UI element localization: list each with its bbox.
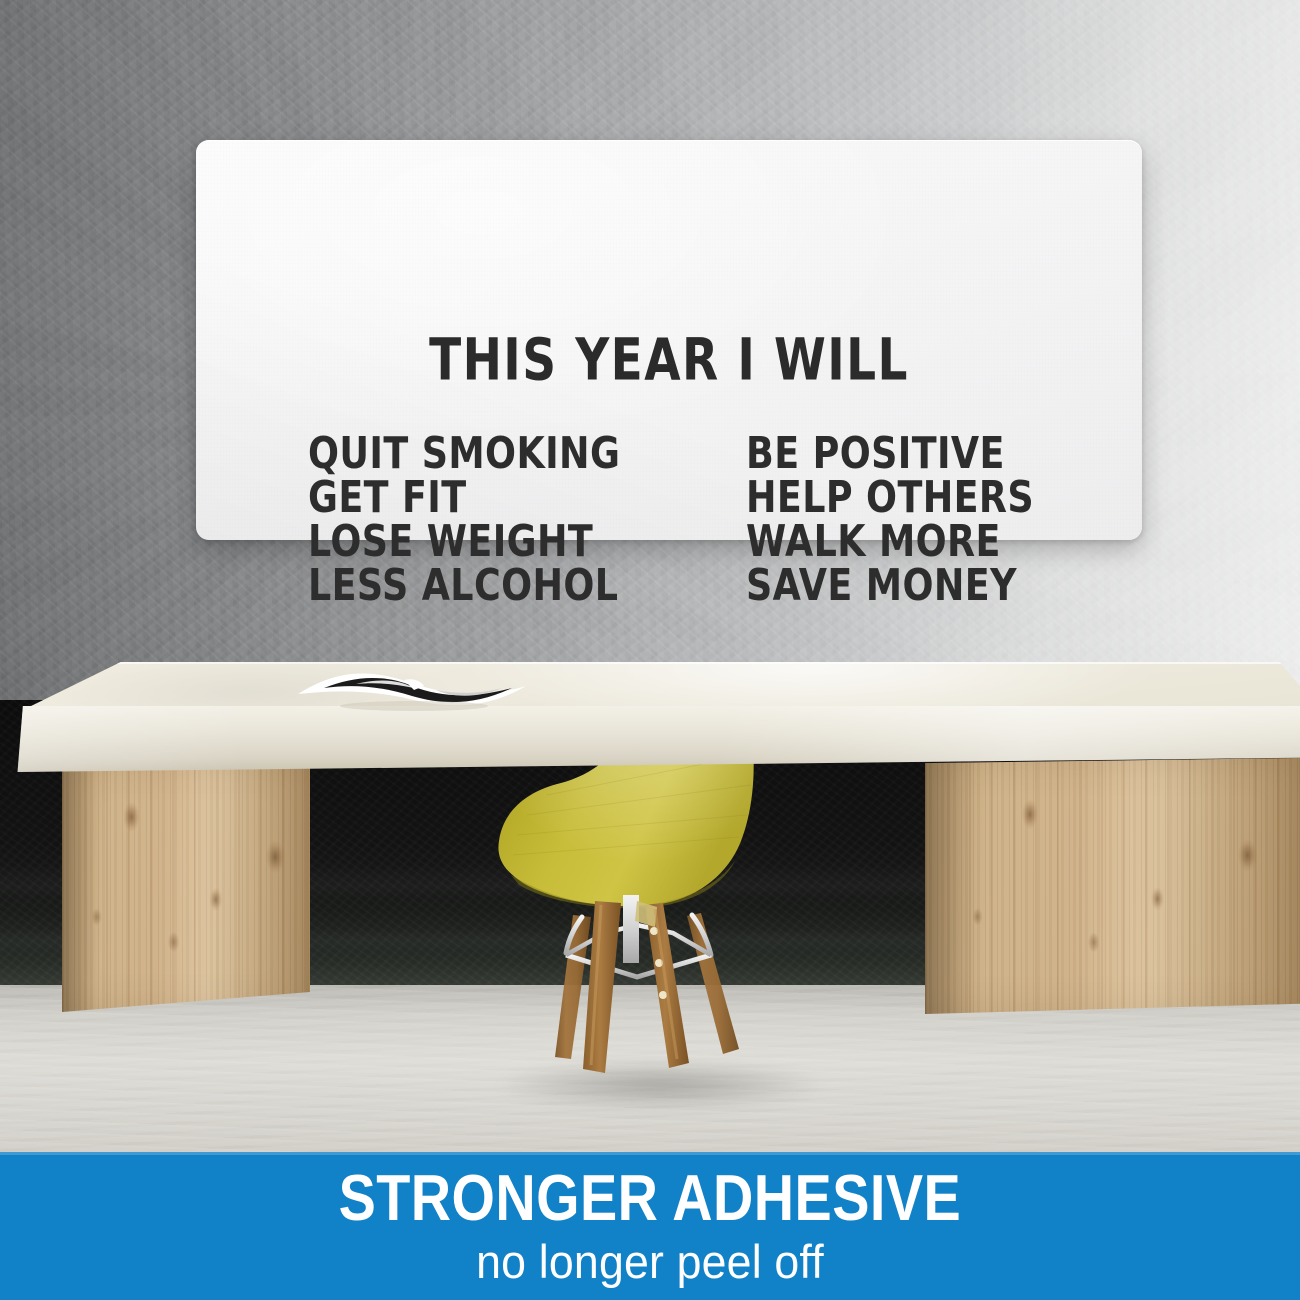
- product-scene: THIS YEAR I WILL QUIT SMOKING GET FIT LO…: [0, 0, 1300, 1300]
- banner-top-line: [0, 1152, 1300, 1155]
- whiteboard-item: WALK MORE: [746, 516, 1126, 566]
- banner-headline: STRONGER ADHESIVE: [339, 1165, 962, 1232]
- whiteboard-title: THIS YEAR I WILL: [224, 326, 1113, 393]
- whiteboard-item: SAVE MONEY: [746, 560, 1126, 610]
- open-magazine: [296, 664, 532, 712]
- wood-shading: [925, 758, 1300, 1014]
- table-surface-sheen: [0, 662, 1300, 710]
- table-leg-right: [925, 758, 1300, 1014]
- banner-subhead: no longer peel off: [476, 1237, 824, 1287]
- whiteboard-item: QUIT SMOKING: [308, 428, 717, 478]
- whiteboard-item: HELP OTHERS: [746, 472, 1126, 522]
- table-front-sheen: [0, 706, 1300, 772]
- whiteboard-item: BE POSITIVE: [746, 428, 1126, 478]
- whiteboard-column-left: QUIT SMOKING GET FIT LOSE WEIGHT LESS AL…: [308, 428, 734, 604]
- marketing-banner: STRONGER ADHESIVE no longer peel off: [0, 1152, 1300, 1300]
- whiteboard-item: LESS ALCOHOL: [308, 560, 717, 610]
- whiteboard-column-right: BE POSITIVE HELP OTHERS WALK MORE SAVE M…: [746, 428, 1142, 604]
- wood-shading: [62, 762, 310, 1012]
- whiteboard-sticker[interactable]: THIS YEAR I WILL QUIT SMOKING GET FIT LO…: [196, 140, 1142, 540]
- table-top: [0, 662, 1300, 770]
- table-leg-left: [62, 762, 310, 1012]
- whiteboard-item: GET FIT: [308, 472, 717, 522]
- whiteboard-lists: QUIT SMOKING GET FIT LOSE WEIGHT LESS AL…: [196, 428, 1142, 604]
- whiteboard-item: LOSE WEIGHT: [308, 516, 717, 566]
